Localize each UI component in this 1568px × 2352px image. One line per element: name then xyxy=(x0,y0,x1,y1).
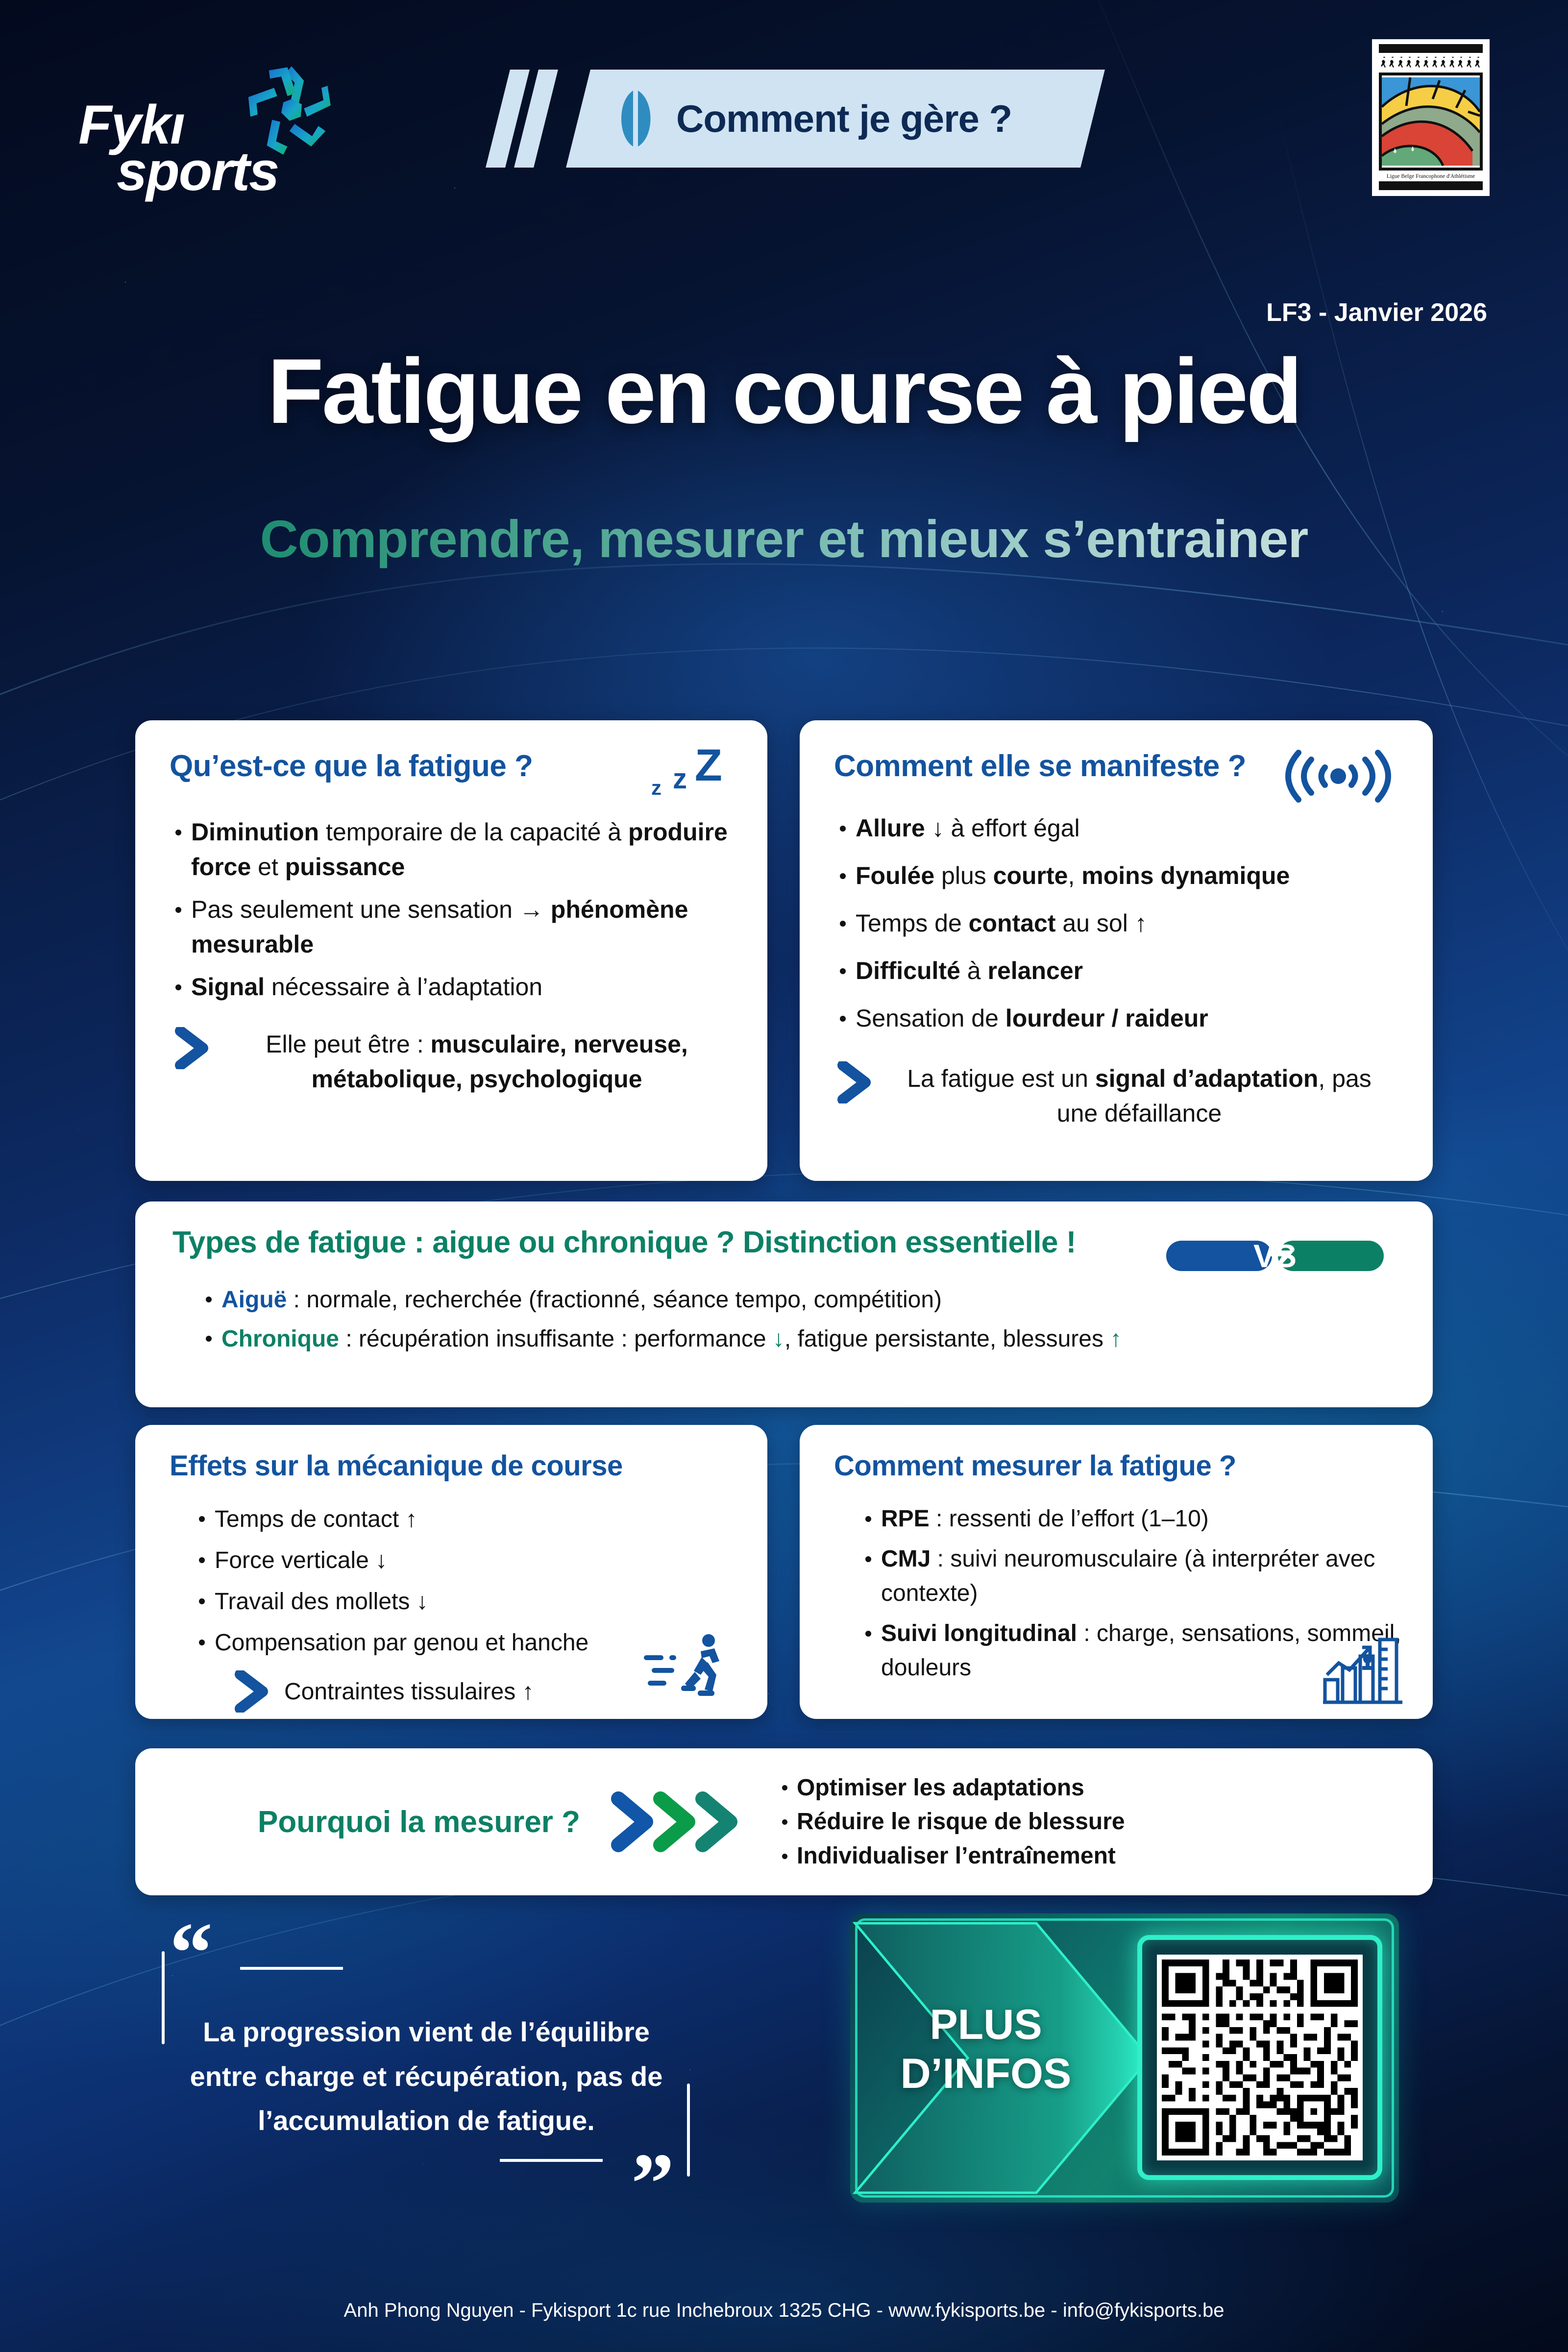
lbfa-top-bar xyxy=(1379,44,1483,53)
more-info-line-2: D’INFOS xyxy=(901,2050,1072,2097)
footer-contact: Anh Phong Nguyen - Fykisport 1c rue Inch… xyxy=(0,2300,1568,2322)
bullet-list-what: Diminution temporaire de la capacité à p… xyxy=(170,815,736,1004)
versus-badge-icon: VS xyxy=(1162,1229,1388,1280)
card-running-mechanics: Effets sur la mécanique de course Temps … xyxy=(135,1425,767,1719)
svg-text:VS: VS xyxy=(1253,1238,1297,1274)
list-item: Temps de contact au sol ↑ xyxy=(834,906,1401,941)
list-item: Sensation de lourdeur / raideur xyxy=(834,1001,1401,1036)
quote-rule-top xyxy=(240,1967,343,1970)
quote-edge-left xyxy=(162,1951,165,2044)
quote-open-mark: “ xyxy=(170,1923,213,1983)
running-man-icon xyxy=(643,1630,731,1698)
page-title: Fatigue en course à pied xyxy=(0,338,1568,444)
signal-waves-icon xyxy=(1282,747,1395,806)
list-item: Aiguë : normale, recherchée (fractionné,… xyxy=(200,1282,1398,1318)
quote-close-mark: ” xyxy=(631,2154,674,2214)
list-item: Optimiser les adaptations xyxy=(776,1771,1125,1805)
bullet-list-why: Optimiser les adaptationsRéduire le risq… xyxy=(776,1771,1125,1873)
callout-text-what: Elle peut être : musculaire, nerveuse, m… xyxy=(224,1027,729,1097)
quote-block: “ La progression vient de l’équilibre en… xyxy=(152,1926,701,2200)
double-leaf-icon xyxy=(613,90,659,147)
list-item: Pas seulement une sensation → phénomène … xyxy=(170,892,736,962)
card-fatigue-types: Types de fatigue : aigue ou chronique ? … xyxy=(135,1201,1433,1407)
quote-edge-right xyxy=(687,2083,690,2177)
list-item: Individualiser l’entraînement xyxy=(776,1839,1125,1873)
list-item: Temps de contact ↑ xyxy=(193,1502,740,1537)
list-item: Difficulté à relancer xyxy=(834,954,1401,988)
lbfa-caption: Ligue Belge Francophone d'Athlétisme xyxy=(1379,172,1483,181)
callout-what: Elle peut être : musculaire, nerveuse, m… xyxy=(170,1027,736,1097)
more-info-label: PLUS D’INFOS xyxy=(881,2001,1091,2099)
bullet-list-manifest: Allure ↓ à effort égalFoulée plus courte… xyxy=(834,811,1401,1036)
lbfa-stadium-art xyxy=(1379,73,1483,171)
poster-root: Fykı sports xyxy=(0,0,1568,2352)
list-item: Signal nécessaire à l’adaptation xyxy=(170,970,736,1004)
list-item: Force verticale ↓ xyxy=(193,1543,740,1578)
list-item: Foulée plus courte, moins dynamique xyxy=(834,858,1401,893)
lbfa-bottom-bar xyxy=(1379,181,1483,190)
list-item: Diminution temporaire de la capacité à p… xyxy=(170,815,736,884)
quote-text: La progression vient de l’équilibre entr… xyxy=(186,2010,666,2143)
callout-manifest: La fatigue est un signal d’adaptation, p… xyxy=(834,1061,1401,1131)
list-item: Réduire le risque de blessure xyxy=(776,1805,1125,1839)
banner-label: Comment je gère ? xyxy=(676,97,1012,141)
chevron-right-icon xyxy=(173,1027,212,1069)
more-info-line-1: PLUS xyxy=(930,2001,1042,2048)
quote-rule-bottom xyxy=(500,2159,603,2162)
bullet-list-types: Aiguë : normale, recherchée (fractionné,… xyxy=(172,1282,1398,1357)
card-title-mechanics: Effets sur la mécanique de course xyxy=(170,1449,740,1482)
pinwheel-icon xyxy=(240,58,343,163)
card-why-measure: Pourquoi la mesurer ? Optimiser les adap… xyxy=(135,1748,1433,1895)
section-banner: Comment je gère ? xyxy=(495,70,1093,168)
list-item: Chronique : récupération insuffisante : … xyxy=(200,1322,1398,1357)
card-what-is-fatigue: Qu’est-ce que la fatigue ? Zzz Diminutio… xyxy=(135,720,767,1181)
fykisports-logo[interactable]: Fykı sports xyxy=(73,39,348,201)
lbfa-runner-frieze xyxy=(1379,53,1483,70)
qr-code[interactable] xyxy=(1157,1955,1363,2160)
more-info-panel[interactable]: PLUS D’INFOS xyxy=(850,1913,1399,2203)
card-title-measure: Comment mesurer la fatigue ? xyxy=(834,1449,1403,1482)
triple-chevron-icon xyxy=(610,1790,747,1854)
list-item: Travail des mollets ↓ xyxy=(193,1584,740,1619)
zzz-sleep-icon: Zzz xyxy=(630,748,723,807)
bar-chart-icon xyxy=(1321,1633,1404,1706)
edition-label: LF3 - Janvier 2026 xyxy=(1266,298,1487,327)
list-item: RPE : ressenti de l’effort (1–10) xyxy=(859,1502,1403,1536)
chevron-right-icon xyxy=(836,1061,874,1103)
qr-frame[interactable] xyxy=(1137,1935,1382,2180)
card-title-why: Pourquoi la mesurer ? xyxy=(258,1805,580,1839)
chevron-right-icon xyxy=(233,1670,271,1713)
card-how-to-measure: Comment mesurer la fatigue ? RPE : resse… xyxy=(800,1425,1433,1719)
bullet-list-measure: RPE : ressenti de l’effort (1–10)CMJ : s… xyxy=(834,1502,1403,1685)
poster-header: Fykı sports xyxy=(0,0,1568,230)
lbfa-logo: Ligue Belge Francophone d'Athlétisme xyxy=(1372,39,1490,196)
list-item: CMJ : suivi neuromusculaire (à interprét… xyxy=(859,1542,1403,1611)
list-item: Allure ↓ à effort égal xyxy=(834,811,1401,846)
callout-text-manifest: La fatigue est un signal d’adaptation, p… xyxy=(887,1061,1392,1131)
page-subtitle: Comprendre, mesurer et mieux s’entrainer xyxy=(186,510,1382,569)
card-how-it-manifests: Comment elle se manifeste ? Allure ↓ à e… xyxy=(800,720,1433,1181)
